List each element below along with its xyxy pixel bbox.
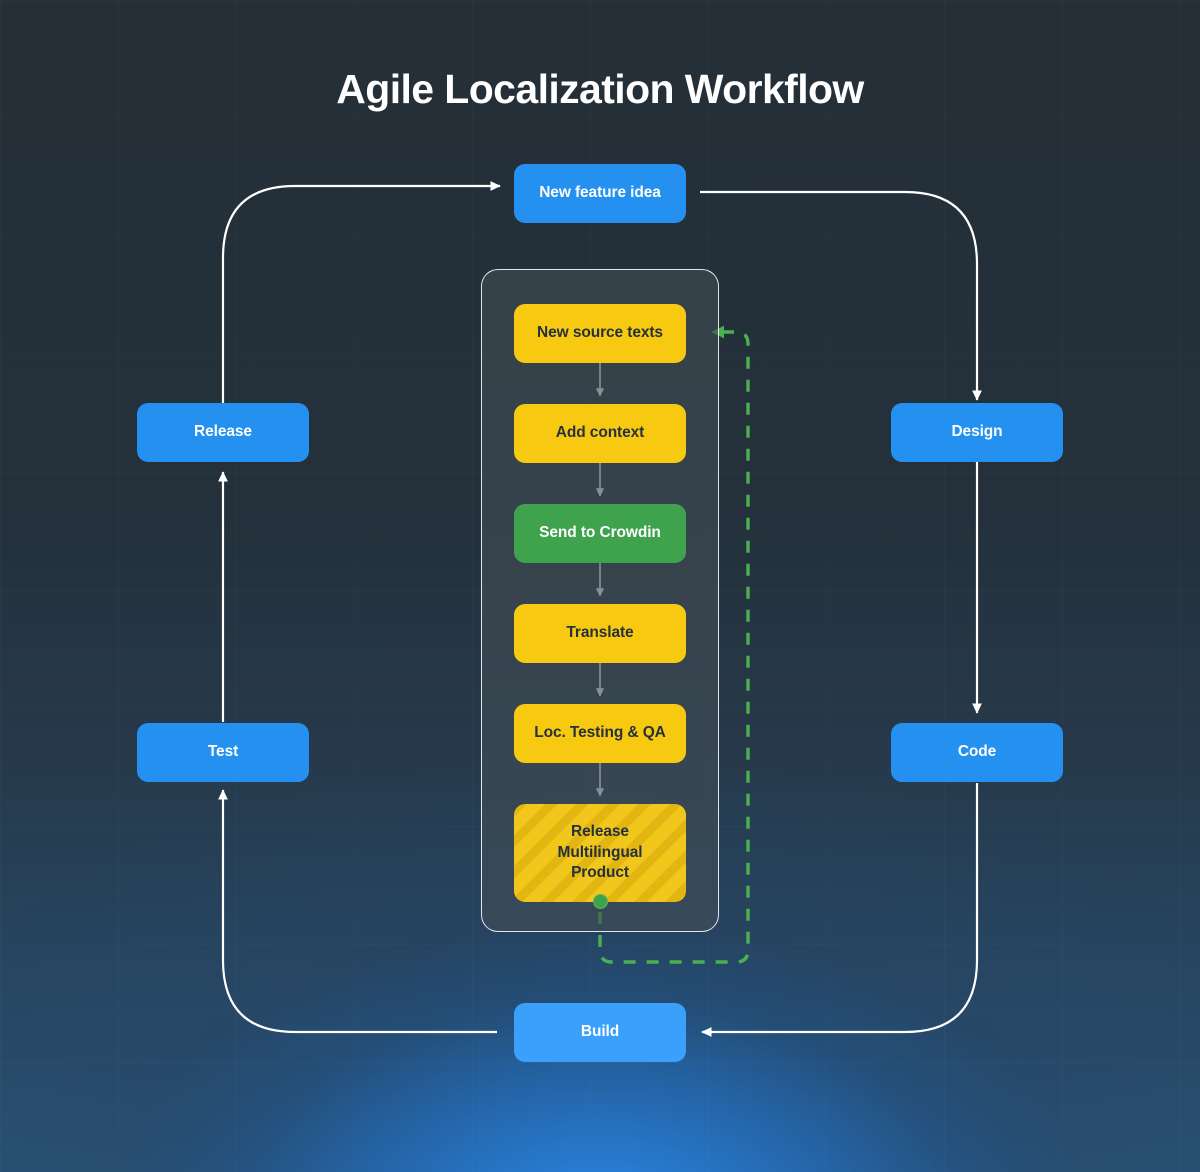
page-title: Agile Localization Workflow (0, 66, 1200, 113)
node-label: Build (581, 1023, 619, 1042)
node-label: New feature idea (539, 184, 661, 203)
node-loc-testing-qa[interactable]: Loc. Testing & QA (514, 704, 686, 763)
feedback-origin-dot (593, 894, 608, 909)
node-label: Design (951, 423, 1002, 442)
diagram-canvas: Agile Localization Workflow (0, 0, 1200, 1172)
node-design[interactable]: Design (891, 403, 1063, 462)
node-send-to-crowdin[interactable]: Send to Crowdin (514, 504, 686, 563)
node-release-multilingual-product[interactable]: ReleaseMultilingualProduct (514, 804, 686, 902)
node-label: Loc. Testing & QA (534, 724, 666, 743)
node-translate[interactable]: Translate (514, 604, 686, 663)
node-test[interactable]: Test (137, 723, 309, 782)
node-label: Translate (566, 624, 633, 643)
node-new-feature-idea[interactable]: New feature idea (514, 164, 686, 223)
node-release[interactable]: Release (137, 403, 309, 462)
node-label: ReleaseMultilingualProduct (558, 822, 643, 885)
node-label: Send to Crowdin (539, 524, 661, 543)
node-label: Test (208, 743, 238, 762)
node-label: Code (958, 743, 996, 762)
node-label: New source texts (537, 324, 663, 343)
node-build[interactable]: Build (514, 1003, 686, 1062)
node-code[interactable]: Code (891, 723, 1063, 782)
node-new-source-texts[interactable]: New source texts (514, 304, 686, 363)
node-label: Release (194, 423, 252, 442)
node-add-context[interactable]: Add context (514, 404, 686, 463)
node-label: Add context (556, 424, 644, 443)
